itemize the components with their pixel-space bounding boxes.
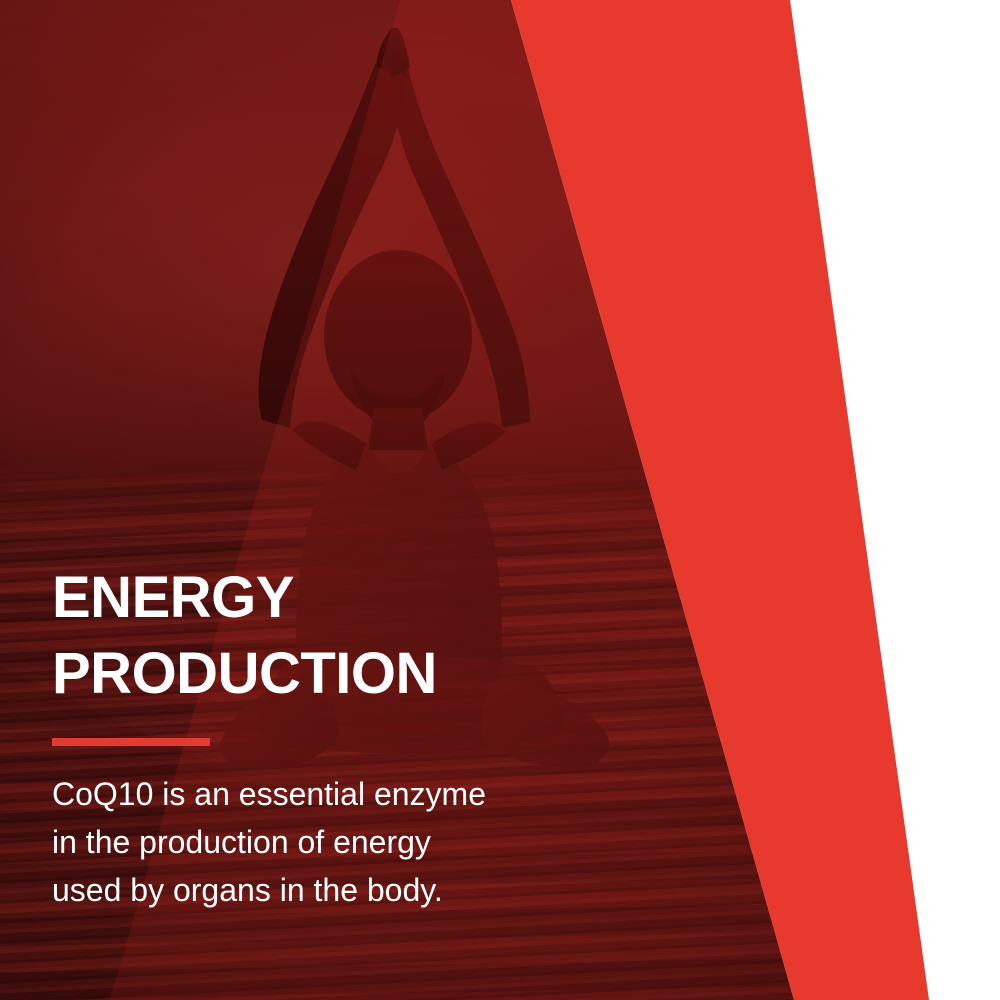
body-line-3: used by organs in the body. <box>52 866 672 914</box>
body-copy: CoQ10 is an essential enzyme in the prod… <box>52 770 672 914</box>
copy-block: ENERGY PRODUCTION CoQ10 is an essential … <box>52 560 672 914</box>
hero-banner: ENERGY PRODUCTION CoQ10 is an essential … <box>0 0 1000 1000</box>
headline-line-1: ENERGY <box>52 560 672 636</box>
page-title: ENERGY PRODUCTION <box>52 560 672 712</box>
body-line-1: CoQ10 is an essential enzyme <box>52 770 672 818</box>
body-line-2: in the production of energy <box>52 818 672 866</box>
headline-line-2: PRODUCTION <box>52 636 672 712</box>
red-rule-divider <box>52 738 210 746</box>
